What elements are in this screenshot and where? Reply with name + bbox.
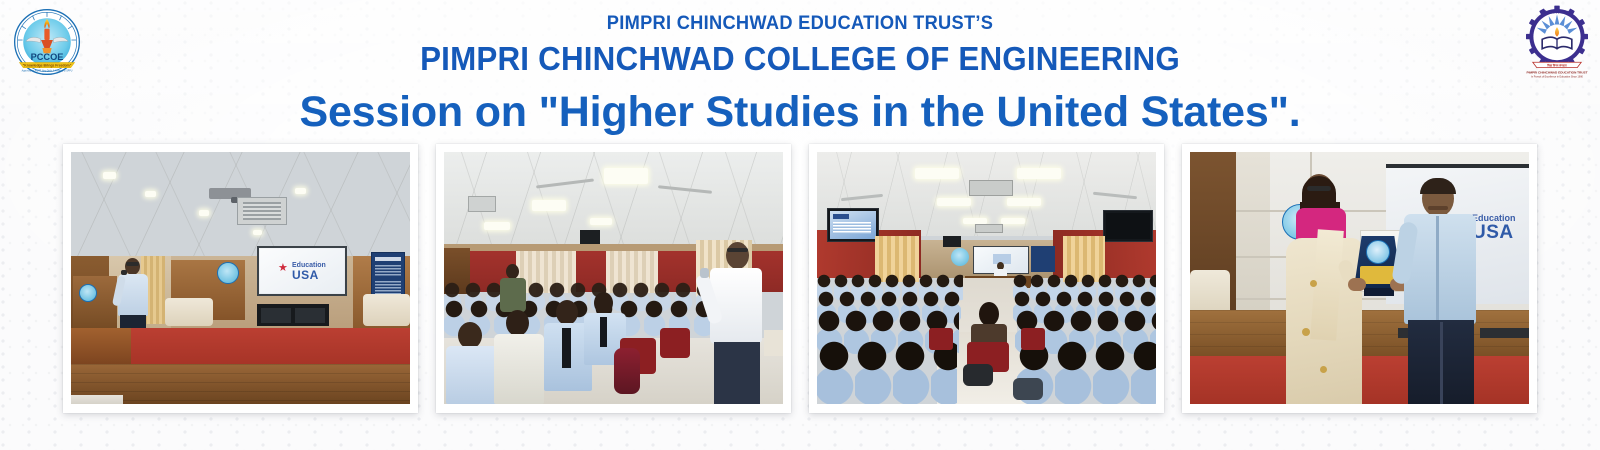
banner-header: PIMPRI CHINCHWAD EDUCATION TRUST’S PIMPR… xyxy=(0,0,1600,134)
photo-audience-speaker[interactable] xyxy=(444,152,783,404)
photo-full-hall[interactable] xyxy=(817,152,1156,404)
photo-stage-speaker[interactable]: ★ Education USA xyxy=(71,152,410,404)
photo-gallery: ★ Education USA xyxy=(0,144,1600,419)
photo-frame-3[interactable] xyxy=(809,144,1164,413)
eduusa-word-bottom-2: USA xyxy=(1472,223,1526,242)
photo-frame-4[interactable]: ★ Education USA xyxy=(1182,144,1537,413)
photo-felicitation[interactable]: ★ Education USA xyxy=(1190,152,1529,404)
photo-frame-2[interactable] xyxy=(436,144,791,413)
eduusa-word-bottom: USA xyxy=(292,269,331,281)
page-title: Session on "Higher Studies in the United… xyxy=(0,75,1600,134)
college-name: PIMPRI CHINCHWAD COLLEGE OF ENGINEERING xyxy=(40,33,1560,75)
eduusa-star-icon: ★ xyxy=(278,263,288,274)
trust-name: PIMPRI CHINCHWAD EDUCATION TRUST’S xyxy=(32,0,1568,33)
photo-frame-1[interactable]: ★ Education USA xyxy=(63,144,418,413)
